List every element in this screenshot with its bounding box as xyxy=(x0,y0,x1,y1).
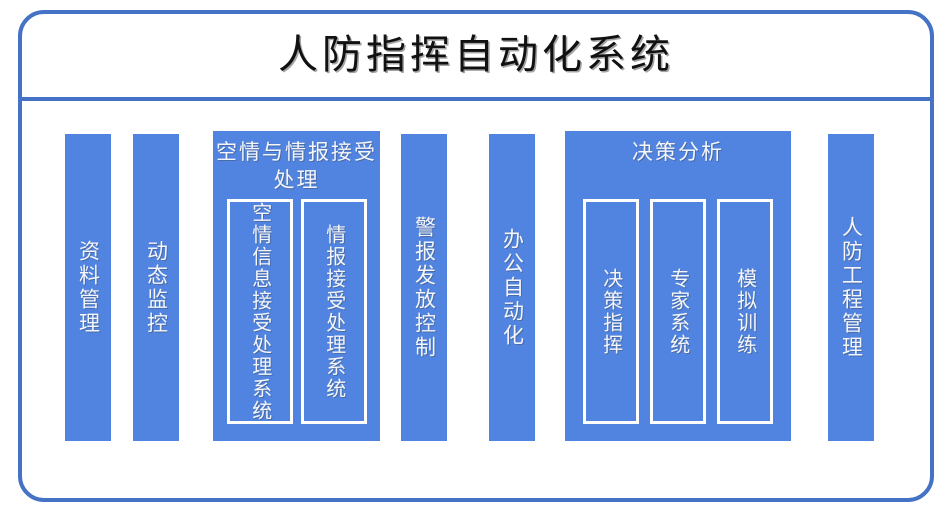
module-bangong-zidonghua[interactable]: 办公自动化 xyxy=(489,134,535,441)
submodule-label-juece-zhihui: 决策指挥 xyxy=(598,268,624,356)
module-label-wrapper: 资料管理 xyxy=(65,134,111,441)
submodule-qingbao-jieshou-system[interactable]: 情报接受处理系统 xyxy=(301,199,367,424)
submodule-label-wrapper: 模拟训练 xyxy=(720,202,770,421)
system-title: 人防指挥自动化系统 xyxy=(278,35,674,75)
module-label-dongtai-jiankong: 动态监控 xyxy=(143,240,170,336)
module-dongtai-jiankong[interactable]: 动态监控 xyxy=(133,134,179,441)
submodule-kongqing-xinxi-system[interactable]: 空情信息接受处理系统 xyxy=(227,199,293,424)
module-label-bangong-zidonghua: 办公自动化 xyxy=(499,228,526,348)
title-divider xyxy=(18,97,934,101)
submodule-label-wrapper: 情报接受处理系统 xyxy=(304,202,364,421)
submodule-label-kongqing-xinxi-system: 空情信息接受处理系统 xyxy=(247,202,273,422)
title-bar: 人防指挥自动化系统 xyxy=(18,12,934,97)
submodule-label-moni-xunlian: 模拟训练 xyxy=(732,268,758,356)
diagram-canvas: 人防指挥自动化系统 资料管理 动态监控 空情与情报接受处理 空情信息接受处理系统… xyxy=(0,0,952,515)
submodule-moni-xunlian[interactable]: 模拟训练 xyxy=(717,199,773,424)
submodule-label-wrapper: 决策指挥 xyxy=(586,202,636,421)
group-juece-fenxi[interactable]: 决策分析 决策指挥 专家系统 模拟训练 xyxy=(565,131,791,441)
submodule-label-wrapper: 专家系统 xyxy=(653,202,703,421)
module-label-wrapper: 警报发放控制 xyxy=(401,134,447,441)
group-title-kongqing-qingbao: 空情与情报接受处理 xyxy=(213,139,380,194)
submodule-label-zhuanjia-xitong: 专家系统 xyxy=(665,268,691,356)
group-kongqing-qingbao[interactable]: 空情与情报接受处理 空情信息接受处理系统 情报接受处理系统 xyxy=(213,131,380,441)
module-ziliao-guanli[interactable]: 资料管理 xyxy=(65,134,111,441)
module-label-wrapper: 人防工程管理 xyxy=(828,134,874,441)
submodule-label-qingbao-jieshou-system: 情报接受处理系统 xyxy=(321,224,347,400)
submodule-zhuanjia-xitong[interactable]: 专家系统 xyxy=(650,199,706,424)
submodule-juece-zhihui[interactable]: 决策指挥 xyxy=(583,199,639,424)
group-title-juece-fenxi: 决策分析 xyxy=(565,139,791,167)
module-label-wrapper: 动态监控 xyxy=(133,134,179,441)
module-jingbao-fafang[interactable]: 警报发放控制 xyxy=(401,134,447,441)
module-label-wrapper: 办公自动化 xyxy=(489,134,535,441)
submodule-label-wrapper: 空情信息接受处理系统 xyxy=(230,202,290,421)
module-renfang-gongcheng[interactable]: 人防工程管理 xyxy=(828,134,874,441)
module-label-renfang-gongcheng: 人防工程管理 xyxy=(838,216,865,360)
module-label-ziliao-guanli: 资料管理 xyxy=(75,240,102,336)
module-label-jingbao-fafang: 警报发放控制 xyxy=(411,216,438,360)
